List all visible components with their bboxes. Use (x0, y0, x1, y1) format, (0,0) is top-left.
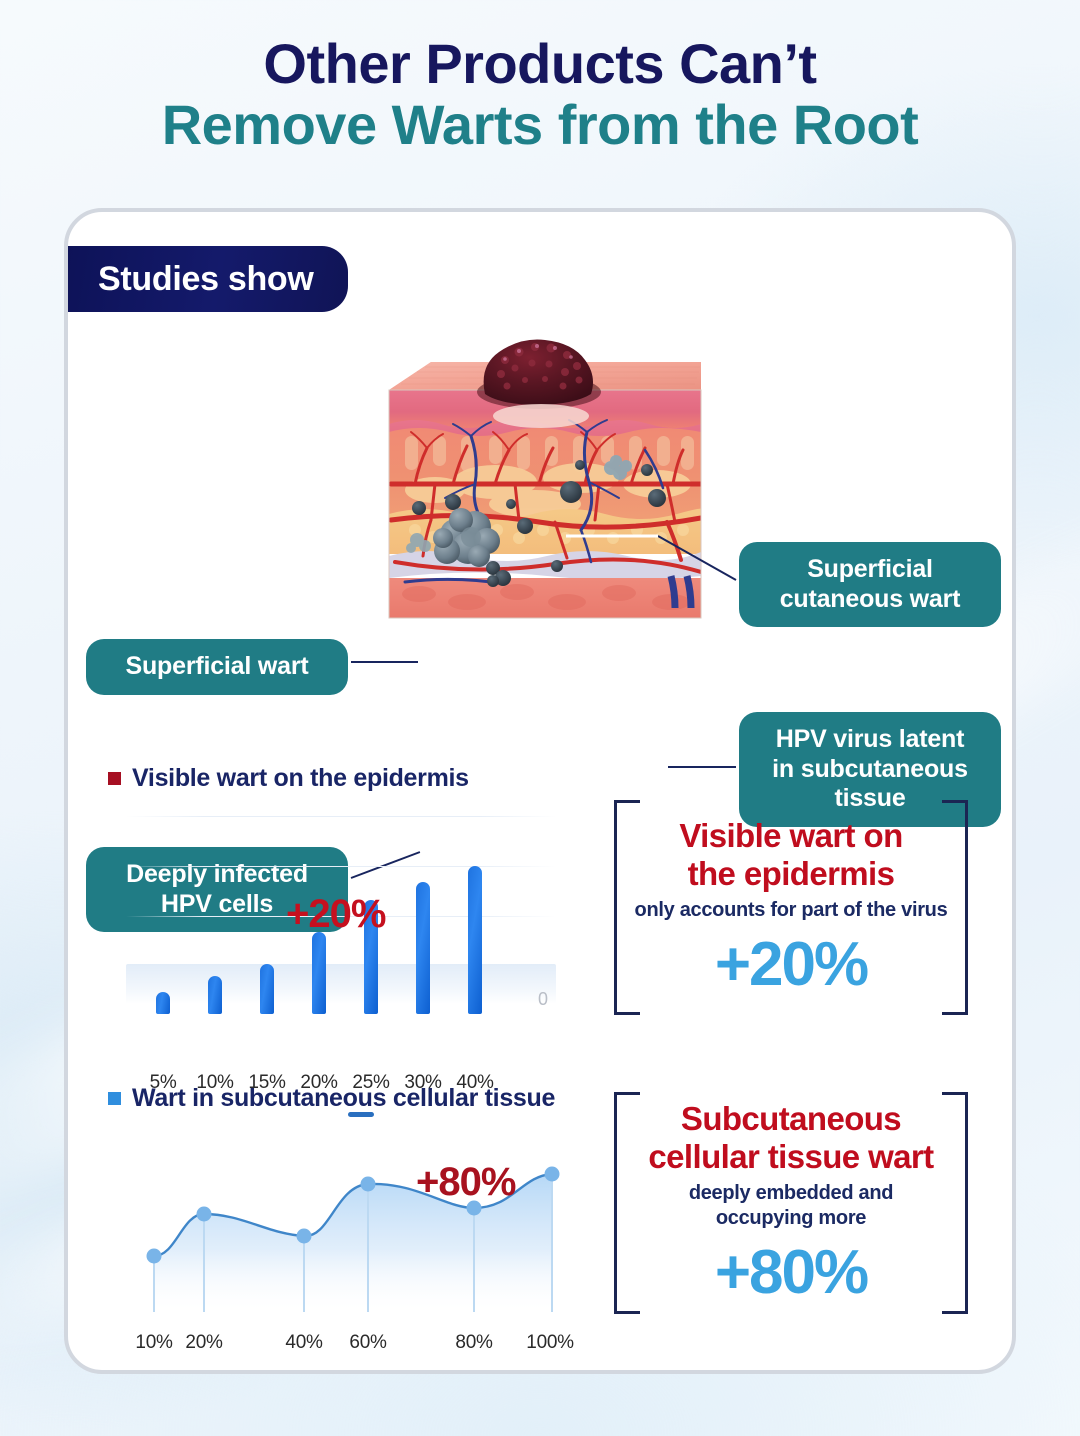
stat-big-value: +80% (715, 1240, 867, 1305)
area-label-100: 100% (519, 1332, 581, 1354)
callout-label: Superficial cutaneous wart (780, 555, 961, 613)
chart-annotation-plus80: +80% (416, 1160, 515, 1205)
stat-heading-line-2: the epidermis (688, 856, 895, 892)
callout-label: Superficial wart (126, 652, 309, 680)
stat-big-value: +20% (715, 932, 867, 997)
stat-content: Visible wart on the epidermis only accou… (626, 800, 956, 1015)
page-title-line-1: Other Products Can’t (0, 34, 1080, 94)
bar-chart: +20% 0 5% 10% 15% 20% 25% 30% 40% (126, 814, 556, 1014)
bar-30 (416, 882, 430, 1014)
content-card: Studies show (64, 208, 1016, 1374)
stat-heading-line-1: Subcutaneous (681, 1101, 901, 1137)
stat-heading-line-1: Visible wart on (679, 818, 902, 854)
callout-superficial-wart: Superficial wart (86, 639, 348, 695)
chart-title-label: Visible wart on the epidermis (132, 764, 469, 793)
bar-10 (208, 976, 222, 1014)
callout-superficial-cutaneous-wart: Superficial cutaneous wart (739, 542, 1001, 627)
data-point-40 (297, 1229, 312, 1244)
bullet-square-icon (108, 772, 121, 785)
area-chart-svg (116, 1126, 586, 1326)
data-point-10 (147, 1249, 162, 1264)
studies-show-badge: Studies show (64, 246, 348, 312)
stat-heading-line-2: cellular tissue wart (648, 1139, 933, 1175)
stat-callout-subcutaneous-wart: Subcutaneous cellular tissue wart deeply… (614, 1092, 968, 1314)
page-header: Other Products Can’t Remove Warts from t… (0, 34, 1080, 157)
bar-20 (312, 932, 326, 1014)
chart-zero-mark: 0 (538, 989, 548, 1010)
stat-content: Subcutaneous cellular tissue wart deeply… (626, 1092, 956, 1314)
bar-15 (260, 964, 274, 1014)
page-title-line-2: Remove Warts from the Root (0, 94, 1080, 157)
stat-subtext: only accounts for part of the virus (635, 899, 948, 922)
chart-title-1: Visible wart on the epidermis (108, 764, 469, 793)
bullet-square-icon (108, 1092, 121, 1105)
area-label-20: 20% (173, 1332, 235, 1354)
chart-title-2: Wart in subcutaneous cellular tissue (108, 1084, 555, 1113)
studies-show-label: Studies show (98, 260, 314, 299)
chart-annotation-plus20: +20% (286, 892, 385, 937)
bar-5 (156, 992, 170, 1014)
stat-callout-visible-wart: Visible wart on the epidermis only accou… (614, 800, 968, 1015)
area-chart: +80% 10% 20% 40% 60% 80% 100% (116, 1126, 586, 1326)
data-point-60 (361, 1177, 376, 1192)
area-label-60: 60% (337, 1332, 399, 1354)
area-label-80: 80% (443, 1332, 505, 1354)
area-label-40: 40% (273, 1332, 335, 1354)
chart-title-label: Wart in subcutaneous cellular tissue (132, 1084, 555, 1113)
stat-subtext-line-2: occupying more (716, 1207, 866, 1230)
data-point-100 (545, 1167, 560, 1182)
data-point-20 (197, 1207, 212, 1222)
stat-subtext-line-1: deeply embedded and (689, 1182, 893, 1205)
bar-40 (468, 866, 482, 1014)
